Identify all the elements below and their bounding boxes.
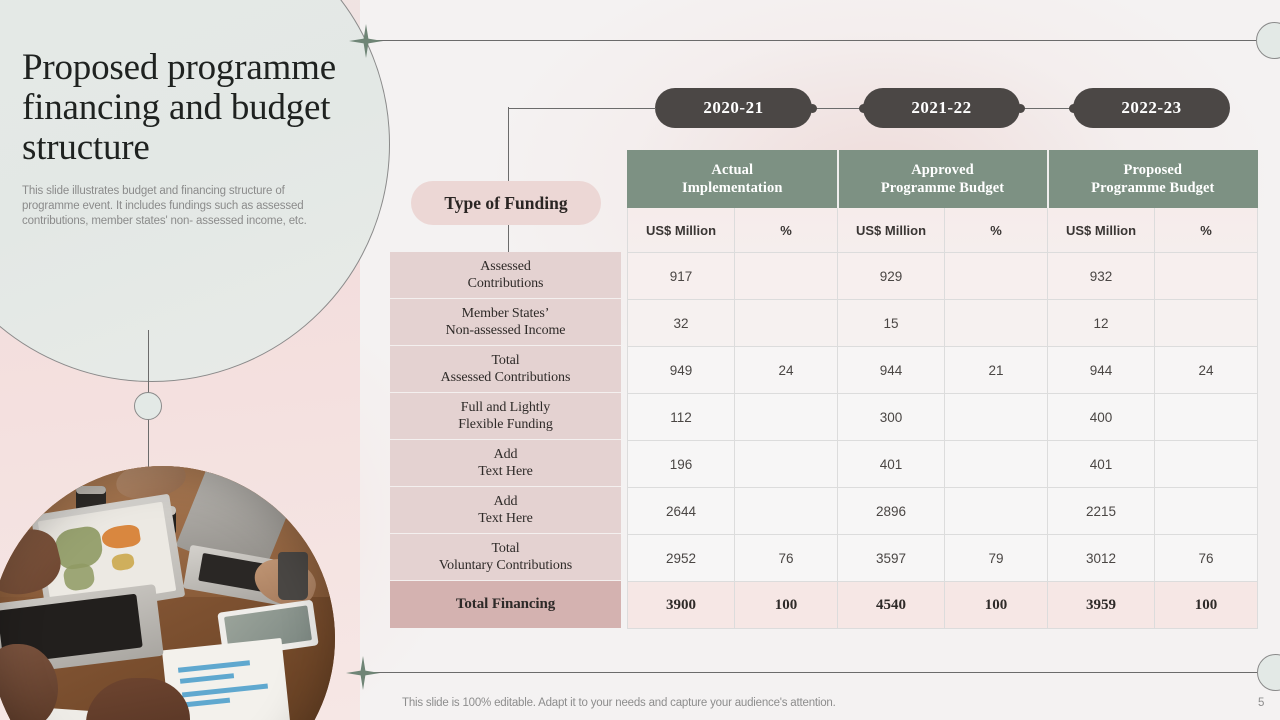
table-cell <box>945 488 1048 535</box>
table-cell: 3900 <box>628 582 735 629</box>
table-cell: 400 <box>1048 394 1155 441</box>
timeline-segment <box>1020 108 1073 109</box>
table-cell <box>735 441 838 488</box>
table-cell: 100 <box>735 582 838 629</box>
top-divider-line <box>366 40 1256 41</box>
table-cell <box>945 300 1048 347</box>
table-cell: 944 <box>1048 347 1155 394</box>
table-sub-header: % <box>945 208 1048 253</box>
meeting-photo <box>0 466 335 720</box>
table-cell: 929 <box>838 253 945 300</box>
table-row: 390010045401003959100 <box>628 582 1258 629</box>
table-cell: 917 <box>628 253 735 300</box>
table-sub-header: % <box>1155 208 1258 253</box>
row-label: AssessedContributions <box>390 252 621 299</box>
table-sub-header: US$ Million <box>628 208 735 253</box>
row-label: Full and LightlyFlexible Funding <box>390 393 621 440</box>
table-row: 917929932 <box>628 253 1258 300</box>
page-number: 5 <box>1258 697 1264 709</box>
row-label: TotalVoluntary Contributions <box>390 534 621 581</box>
table-cell <box>735 300 838 347</box>
table-cell <box>1155 394 1258 441</box>
table-row: 264428962215 <box>628 488 1258 535</box>
table-cell <box>945 253 1048 300</box>
table-cell: 100 <box>1155 582 1258 629</box>
table-cell <box>735 394 838 441</box>
table-cell: 2644 <box>628 488 735 535</box>
table-cell: 12 <box>1048 300 1155 347</box>
table-row: 295276359779301276 <box>628 535 1258 582</box>
slide-canvas: Proposed programme financing and budget … <box>0 0 1280 720</box>
table-cell: 401 <box>838 441 945 488</box>
bottom-divider-line <box>372 672 1257 673</box>
table-sub-header-row: US$ Million%US$ Million%US$ Million% <box>628 208 1258 253</box>
timeline: 2020-21 2021-22 2022-23 <box>655 88 1235 128</box>
bottom-right-circle-decoration <box>1257 654 1280 691</box>
type-of-funding-header: Type of Funding <box>411 181 601 225</box>
timeline-connector-horizontal <box>508 108 656 109</box>
table-sub-header: US$ Million <box>1048 208 1155 253</box>
page-title: Proposed programme financing and budget … <box>22 48 384 168</box>
table-group-header: ActualImplementation <box>628 151 838 208</box>
table-body: 9179299323215129492494421944241123004001… <box>628 253 1258 629</box>
table-head: ActualImplementationApprovedProgramme Bu… <box>628 151 1258 253</box>
row-label-total: Total Financing <box>390 581 621 628</box>
table-cell <box>1155 253 1258 300</box>
table-cell: 3959 <box>1048 582 1155 629</box>
table-sub-header: % <box>735 208 838 253</box>
page-subtitle: This slide illustrates budget and financ… <box>22 184 334 229</box>
timeline-pill-2020-21[interactable]: 2020-21 <box>655 88 812 128</box>
table-cell: 2952 <box>628 535 735 582</box>
row-label-column: AssessedContributionsMember States’Non-a… <box>390 252 621 628</box>
table-cell <box>735 488 838 535</box>
table-group-header: ApprovedProgramme Budget <box>838 151 1048 208</box>
row-label: AddText Here <box>390 440 621 487</box>
row-label: TotalAssessed Contributions <box>390 346 621 393</box>
table-cell <box>945 441 1048 488</box>
timeline-connector-vertical <box>508 107 509 252</box>
table-cell: 15 <box>838 300 945 347</box>
footer-note: This slide is 100% editable. Adapt it to… <box>402 697 836 709</box>
top-right-circle-decoration <box>1256 22 1280 59</box>
table-cell: 100 <box>945 582 1048 629</box>
table-group-header: ProposedProgramme Budget <box>1048 151 1258 208</box>
table-cell: 4540 <box>838 582 945 629</box>
table-cell: 21 <box>945 347 1048 394</box>
table-cell: 2215 <box>1048 488 1155 535</box>
table-cell: 112 <box>628 394 735 441</box>
table-cell: 3012 <box>1048 535 1155 582</box>
table-cell <box>1155 488 1258 535</box>
table-cell <box>945 394 1048 441</box>
table-row: 321512 <box>628 300 1258 347</box>
table-cell: 79 <box>945 535 1048 582</box>
table-row: 112300400 <box>628 394 1258 441</box>
table-cell: 944 <box>838 347 945 394</box>
table-cell <box>1155 300 1258 347</box>
table-cell: 949 <box>628 347 735 394</box>
table-cell <box>1155 441 1258 488</box>
table-cell: 196 <box>628 441 735 488</box>
timeline-pill-2022-23[interactable]: 2022-23 <box>1073 88 1230 128</box>
table-cell: 3597 <box>838 535 945 582</box>
table-cell: 401 <box>1048 441 1155 488</box>
table-cell: 2896 <box>838 488 945 535</box>
connector-node-circle <box>134 392 162 420</box>
table-cell: 932 <box>1048 253 1155 300</box>
timeline-segment <box>812 108 863 109</box>
table-cell: 24 <box>735 347 838 394</box>
row-label: AddText Here <box>390 487 621 534</box>
title-block: Proposed programme financing and budget … <box>22 48 384 229</box>
table-cell: 24 <box>1155 347 1258 394</box>
table-cell <box>735 253 838 300</box>
budget-table: ActualImplementationApprovedProgramme Bu… <box>627 150 1258 629</box>
table-sub-header: US$ Million <box>838 208 945 253</box>
table-group-header-row: ActualImplementationApprovedProgramme Bu… <box>628 151 1258 208</box>
table-cell: 76 <box>735 535 838 582</box>
table-row: 949249442194424 <box>628 347 1258 394</box>
table-cell: 76 <box>1155 535 1258 582</box>
timeline-pill-2021-22[interactable]: 2021-22 <box>863 88 1020 128</box>
table-cell: 32 <box>628 300 735 347</box>
table-row: 196401401 <box>628 441 1258 488</box>
row-label: Member States’Non-assessed Income <box>390 299 621 346</box>
table-cell: 300 <box>838 394 945 441</box>
